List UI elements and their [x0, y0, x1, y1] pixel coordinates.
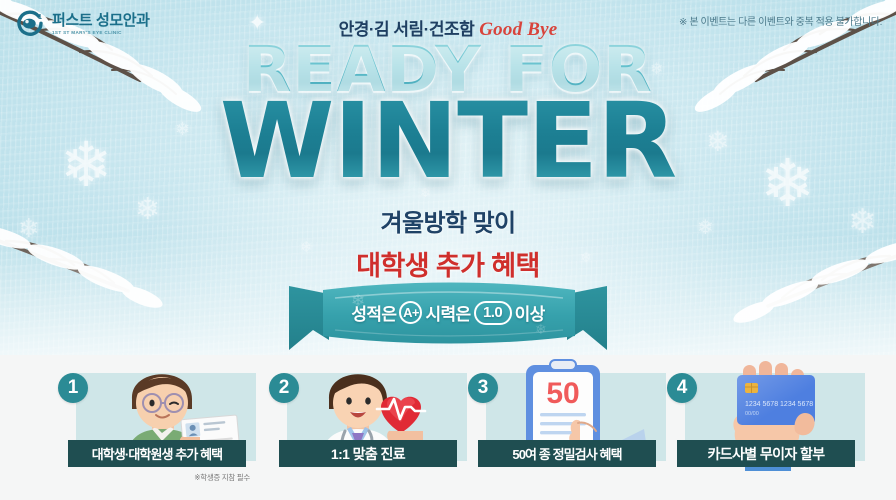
benefit-note: ※학생증 지참 필수	[194, 472, 250, 483]
ribbon-text: 성적은 A+ 시력은 1.0 이상	[283, 300, 613, 325]
ribbon-text-before: 성적은	[351, 300, 396, 325]
brand-english-name: 1ST ST MARY'S EYE CLINIC	[52, 31, 150, 36]
benefit-label: 50여 종 정밀검사 혜택	[478, 440, 656, 467]
hero-subtitle-line2: 대학생 추가 혜택	[0, 244, 896, 283]
eye-logo-icon: 1	[16, 10, 44, 38]
benefit-number-badge: 4	[667, 373, 697, 403]
benefits-section: 1 대학생·대학원생 추가 혜택 ※학생증 지참 필수	[0, 355, 896, 500]
vision-badge: 1.0	[474, 301, 512, 325]
benefit-number-badge: 1	[58, 373, 88, 403]
grade-badge: A+	[399, 301, 422, 324]
benefit-card[interactable]: 2 1:1 맞춤 진료	[269, 363, 467, 493]
benefit-number-badge: 2	[269, 373, 299, 403]
hero-subtitle-line1: 겨울방학 맞이	[0, 203, 896, 238]
event-disclaimer: ※ 본 이벤트는 다른 이벤트와 중복 적용 불가합니다.	[679, 13, 882, 28]
benefit-label: 카드사별 무이자 할부	[677, 440, 855, 467]
benefit-card[interactable]: 50 3 50여 종 정밀검사 혜택	[468, 363, 666, 493]
clipboard-value: 50	[546, 377, 579, 410]
benefit-card[interactable]: 1234 5678 1234 5678 00/00 4 카드사별 무이자 할부	[667, 363, 865, 493]
benefit-card[interactable]: 1 대학생·대학원생 추가 혜택 ※학생증 지참 필수	[58, 363, 256, 493]
promo-ribbon: ❄ ❄ 성적은 A+ 시력은 1.0 이상	[283, 278, 613, 358]
benefit-label: 1:1 맞춤 진료	[279, 440, 457, 467]
brand-logo[interactable]: 1 퍼스트 성모안과 1ST ST MARY'S EYE CLINIC	[16, 10, 150, 38]
ribbon-text-middle: 시력은	[425, 300, 470, 325]
brand-name: 퍼스트 성모안과	[52, 13, 150, 28]
promo-banner: ❄ ❄ ❄ ❄ ❄ ❄ ❄ ❄ ❄ ❄ ❄ ❄ ❄ ✦	[0, 0, 896, 500]
ribbon-text-after: 이상	[515, 300, 545, 325]
benefit-number-badge: 3	[468, 373, 498, 403]
svg-text:1: 1	[38, 14, 42, 21]
benefit-label: 대학생·대학원생 추가 혜택	[68, 440, 246, 467]
benefit-card-list: 1 대학생·대학원생 추가 혜택 ※학생증 지참 필수	[0, 355, 896, 500]
hero-title-line2: WINTER	[0, 89, 896, 193]
credit-card-number: 1234 5678 1234 5678	[745, 401, 813, 408]
hero-headline: 안경·김 서림·건조함Good Bye READY FOR WINTER 겨울방…	[0, 0, 896, 283]
credit-card-expiry: 00/00	[745, 411, 759, 417]
brand-text: 퍼스트 성모안과 1ST ST MARY'S EYE CLINIC	[52, 13, 150, 36]
